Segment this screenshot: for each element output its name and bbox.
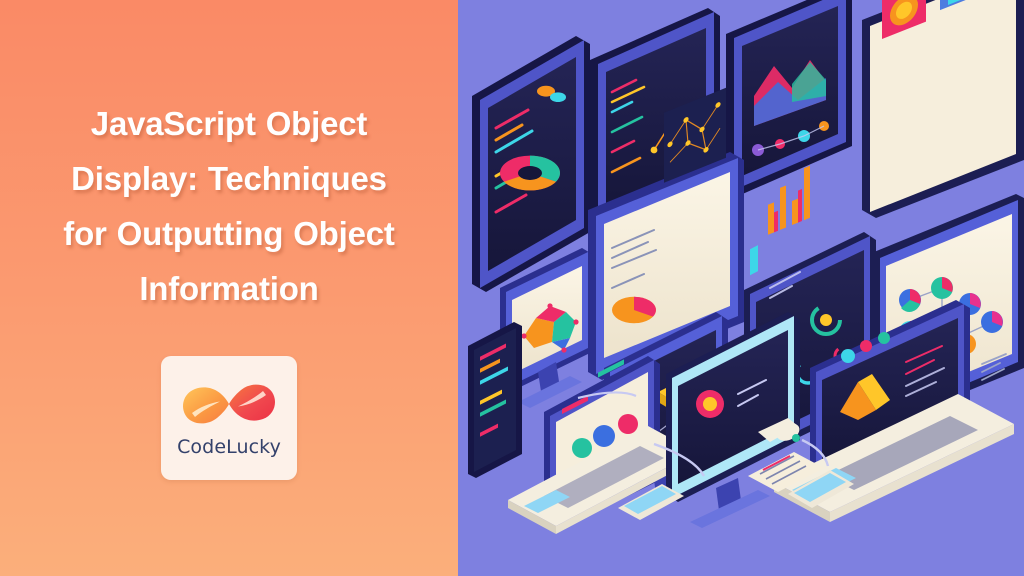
isometric-data-dashboard-workstation-illustration xyxy=(458,0,1024,576)
brand-logo-card: CodeLucky xyxy=(161,356,297,480)
left-title-panel: JavaScript Object Display: Techniques fo… xyxy=(0,0,458,576)
right-illustration-panel xyxy=(458,0,1024,576)
tablet-sidebar-left xyxy=(468,322,522,478)
title-line-2: Display: Techniques xyxy=(43,151,415,206)
blog-banner: JavaScript Object Display: Techniques fo… xyxy=(0,0,1024,576)
title-line-1: JavaScript Object xyxy=(43,96,415,151)
brand-wordmark: CodeLucky xyxy=(177,436,281,458)
title-line-4: Information xyxy=(43,261,415,316)
page-title: JavaScript Object Display: Techniques fo… xyxy=(43,96,415,316)
title-line-3: for Outputting Object xyxy=(43,206,415,261)
infinity-leaf-logo-icon xyxy=(177,378,281,430)
